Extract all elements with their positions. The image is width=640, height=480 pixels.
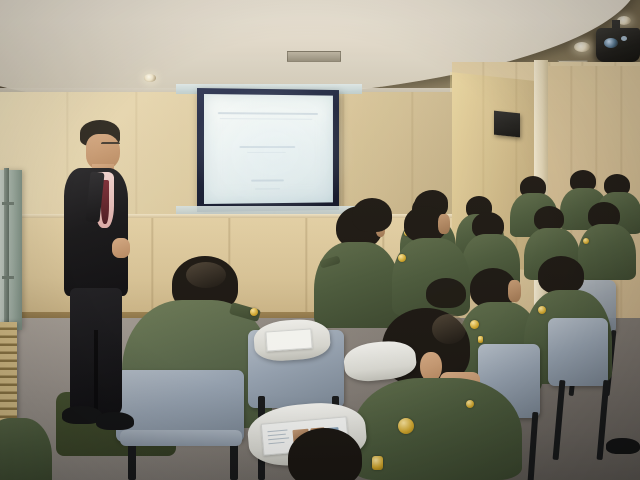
photo-scene — [0, 0, 640, 480]
shoe — [606, 438, 640, 454]
projector-highlight — [621, 36, 627, 41]
collar-insignia — [478, 336, 483, 343]
cadet-hair-highlight — [186, 262, 226, 288]
cadet-torso — [578, 224, 636, 280]
cadet-head — [288, 428, 362, 480]
shoulder-button — [466, 400, 474, 408]
projection-screen-surface — [204, 94, 333, 204]
chair-seat[interactable] — [120, 430, 242, 446]
cadet-head — [426, 278, 466, 308]
cadet-head — [538, 256, 584, 294]
cadet-face — [508, 280, 521, 302]
projector-icon — [596, 28, 640, 62]
shoulder-insignia — [398, 418, 414, 434]
shoulder-insignia — [398, 254, 406, 262]
cadet-torso — [314, 242, 400, 328]
whiteboard-post — [4, 168, 9, 333]
downlight-icon — [574, 42, 590, 52]
cadet-hair-highlight — [432, 314, 466, 344]
whiteboard-clip — [2, 276, 14, 279]
downlight-icon — [144, 74, 156, 82]
paper-sheet[interactable] — [265, 328, 312, 351]
shoulder-insignia — [470, 320, 479, 329]
wall-vent — [287, 51, 341, 62]
shoulder-insignia — [583, 238, 589, 244]
presenter-trouser-split — [94, 330, 98, 416]
presenter-glasses-icon — [101, 142, 120, 149]
projector-lens-icon — [604, 38, 618, 48]
wall-speaker-icon — [494, 111, 520, 138]
collar-insignia — [372, 456, 383, 470]
presenter-hand — [112, 238, 130, 258]
shoulder-insignia — [250, 308, 258, 316]
cadet-head — [352, 198, 392, 232]
shoulder-insignia — [538, 306, 546, 314]
whiteboard-clip — [2, 202, 14, 205]
chair-back[interactable] — [548, 318, 608, 386]
cadet-face — [438, 214, 450, 234]
presenter-shoe — [96, 412, 134, 430]
